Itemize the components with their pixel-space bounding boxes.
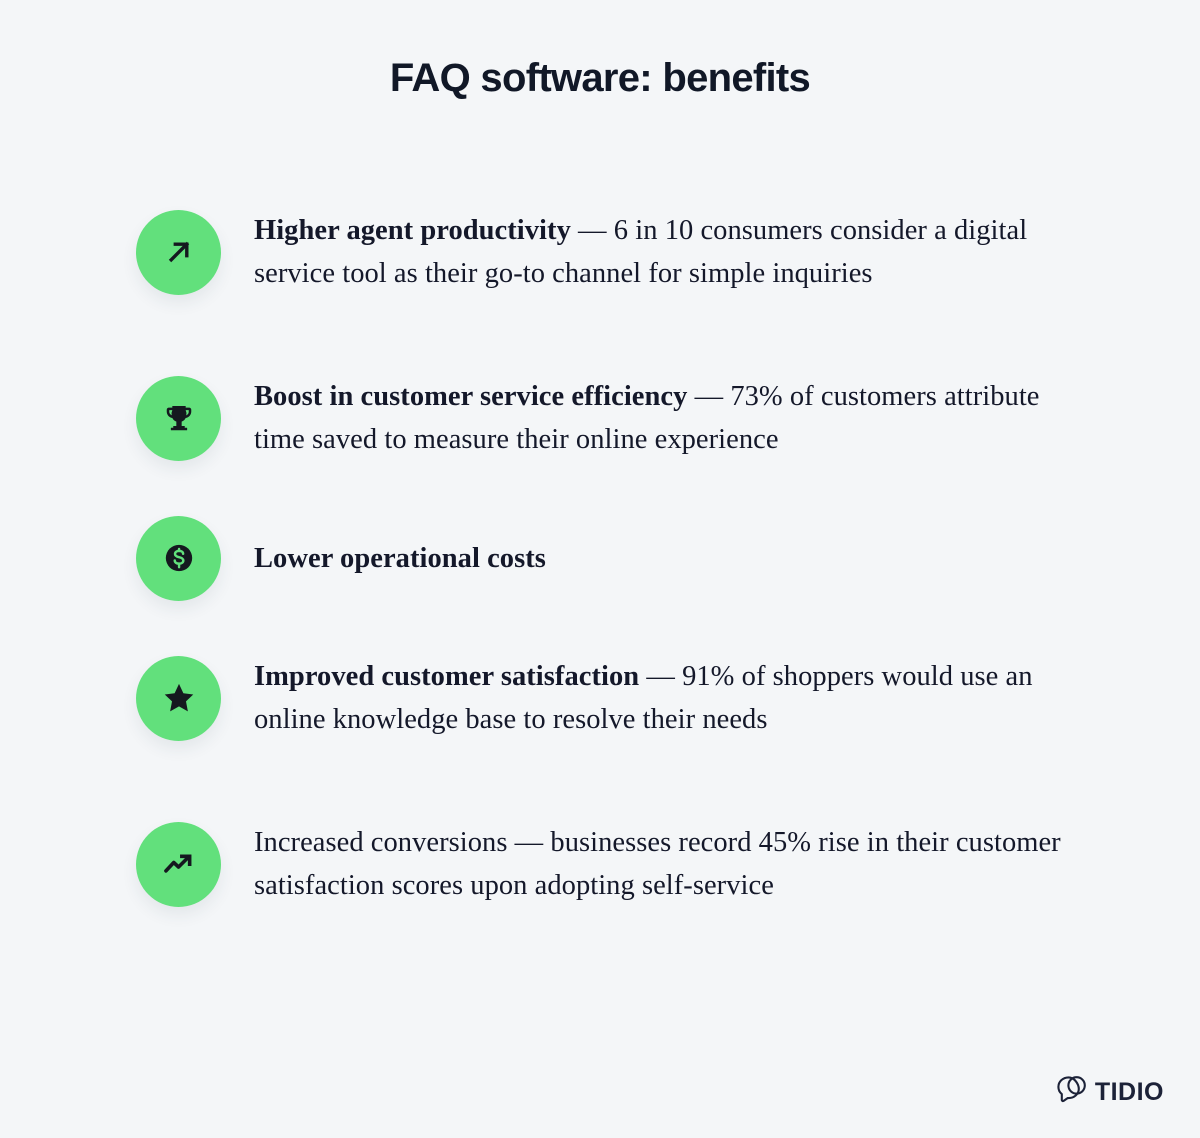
tidio-logo: TIDIO bbox=[1056, 1075, 1164, 1110]
benefit-separator: — bbox=[508, 827, 551, 858]
trending-up-icon bbox=[161, 846, 197, 882]
benefit-item: Lower operational costs bbox=[136, 510, 1076, 606]
benefit-text: Increased conversions — businesses recor… bbox=[254, 821, 1076, 907]
benefit-lead: Higher agent productivity bbox=[254, 215, 571, 246]
benefit-item: Increased conversions — businesses recor… bbox=[136, 790, 1076, 938]
star-icon bbox=[161, 680, 197, 716]
benefit-icon-badge bbox=[136, 516, 221, 601]
benefit-lead: Boost in customer service efficiency bbox=[254, 381, 687, 412]
benefit-text: Higher agent productivity — 6 in 10 cons… bbox=[254, 209, 1076, 295]
benefit-separator: — bbox=[639, 661, 682, 692]
page-title-container: FAQ software: benefits bbox=[0, 52, 1200, 104]
benefits-list: Higher agent productivity — 6 in 10 cons… bbox=[136, 178, 1076, 938]
benefit-icon-badge bbox=[136, 656, 221, 741]
benefit-lead: Improved customer satisfaction bbox=[254, 661, 639, 692]
tidio-chat-bubble-icon bbox=[1056, 1075, 1088, 1110]
dollar-coin-icon bbox=[162, 541, 196, 575]
trophy-icon bbox=[163, 402, 195, 434]
tidio-wordmark: TIDIO bbox=[1095, 1080, 1164, 1105]
arrow-up-right-icon bbox=[162, 235, 196, 269]
benefit-item: Higher agent productivity — 6 in 10 cons… bbox=[136, 178, 1076, 326]
benefit-item: Improved customer satisfaction — 91% of … bbox=[136, 642, 1076, 754]
page-title: FAQ software: benefits bbox=[390, 52, 810, 104]
benefit-lead: Increased conversions bbox=[254, 827, 508, 858]
benefit-text: Improved customer satisfaction — 91% of … bbox=[254, 655, 1076, 741]
benefit-separator: — bbox=[571, 215, 614, 246]
benefit-text: Lower operational costs bbox=[254, 537, 1076, 580]
infographic-canvas: FAQ software: benefits Higher agent prod… bbox=[0, 0, 1200, 1138]
benefit-text: Boost in customer service efficiency — 7… bbox=[254, 375, 1076, 461]
benefit-icon-badge bbox=[136, 210, 221, 295]
benefit-lead: Lower operational costs bbox=[254, 543, 546, 574]
benefit-separator: — bbox=[687, 381, 730, 412]
benefit-icon-badge bbox=[136, 822, 221, 907]
benefit-icon-badge bbox=[136, 376, 221, 461]
benefit-item: Boost in customer service efficiency — 7… bbox=[136, 362, 1076, 474]
